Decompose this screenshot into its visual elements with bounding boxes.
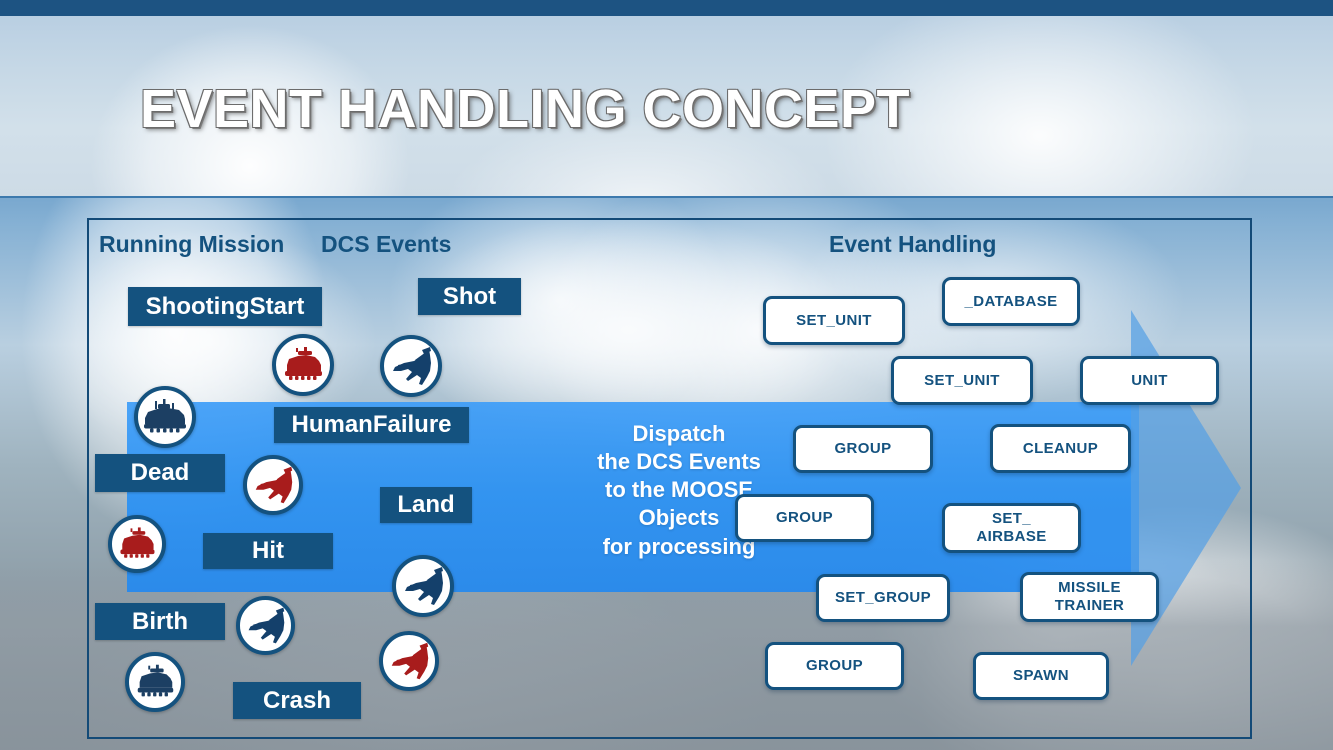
- event-icon-badge: [272, 334, 334, 396]
- event-callout-label: Birth: [132, 608, 188, 636]
- moose-object-box[interactable]: UNIT: [1080, 356, 1219, 405]
- dispatch-arrow-line: Dispatch: [559, 420, 799, 448]
- event-callout[interactable]: Hit: [203, 533, 333, 569]
- moose-object-label: SET_UNIT: [796, 312, 872, 330]
- column-heading-dcs-events: DCS Events: [321, 231, 451, 258]
- event-icon-badge: [392, 555, 454, 617]
- moose-object-box[interactable]: MISSILETRAINER: [1020, 572, 1159, 622]
- moose-object-label: UNIT: [1131, 372, 1168, 390]
- event-callout-label: Dead: [131, 459, 190, 487]
- event-callout[interactable]: Dead: [95, 454, 225, 492]
- moose-object-box[interactable]: CLEANUP: [990, 424, 1131, 473]
- event-callout-label: Land: [397, 491, 454, 519]
- event-icon-badge: [236, 596, 295, 655]
- moose-object-box[interactable]: SPAWN: [973, 652, 1109, 700]
- moose-object-box[interactable]: SET_UNIT: [891, 356, 1033, 405]
- jet-icon: [386, 341, 436, 391]
- ship-icon: [140, 392, 190, 442]
- moose-object-box[interactable]: GROUP: [735, 494, 874, 542]
- event-callout-label: Shot: [443, 283, 496, 311]
- event-icon-badge: [134, 386, 196, 448]
- moose-object-label: _DATABASE: [964, 293, 1057, 311]
- slide-canvas: EVENT HANDLING CONCEPT Dispatchthe DCS E…: [0, 0, 1333, 750]
- tank-icon: [278, 340, 328, 390]
- event-icon-badge: [380, 335, 442, 397]
- page-title: EVENT HANDLING CONCEPT: [140, 78, 910, 140]
- event-icon-badge: [379, 631, 439, 691]
- event-icon-badge: [243, 455, 303, 515]
- event-icon-badge: [125, 652, 185, 712]
- jet-red-icon: [385, 637, 433, 685]
- event-callout-label: ShootingStart: [146, 293, 305, 321]
- jet-icon: [398, 561, 448, 611]
- column-heading-running-mission: Running Mission: [99, 231, 284, 258]
- moose-object-label: SET_AIRBASE: [976, 510, 1046, 545]
- tank-icon: [114, 521, 160, 567]
- jet-icon: [386, 341, 436, 391]
- tank-icon: [114, 521, 160, 567]
- top-accent-strip: [0, 0, 1333, 16]
- moose-object-box[interactable]: SET_GROUP: [816, 574, 950, 622]
- event-callout[interactable]: Land: [380, 487, 472, 523]
- jet-icon: [242, 602, 289, 649]
- jet-red-icon: [249, 461, 297, 509]
- moose-object-label: GROUP: [806, 657, 863, 675]
- tank-navy-icon: [131, 658, 179, 706]
- event-callout-label: Crash: [263, 687, 331, 715]
- tank-icon: [278, 340, 328, 390]
- event-callout[interactable]: Crash: [233, 682, 361, 719]
- column-heading-event-handling: Event Handling: [829, 231, 996, 258]
- jet-red-icon: [385, 637, 433, 685]
- event-icon-badge: [108, 515, 166, 573]
- moose-object-box[interactable]: SET_AIRBASE: [942, 503, 1081, 553]
- dispatch-arrow-line: the DCS Events: [559, 448, 799, 476]
- moose-object-label: GROUP: [834, 440, 891, 458]
- event-callout[interactable]: HumanFailure: [274, 407, 469, 443]
- jet-icon: [398, 561, 448, 611]
- moose-object-label: SPAWN: [1013, 667, 1069, 685]
- tank-navy-icon: [131, 658, 179, 706]
- moose-object-label: GROUP: [776, 509, 833, 527]
- moose-object-box[interactable]: SET_UNIT: [763, 296, 905, 345]
- event-callout-label: HumanFailure: [291, 411, 451, 439]
- jet-red-icon: [249, 461, 297, 509]
- moose-object-box[interactable]: GROUP: [765, 642, 904, 690]
- moose-object-label: SET_GROUP: [835, 589, 931, 607]
- moose-object-label: SET_UNIT: [924, 372, 1000, 390]
- event-callout[interactable]: ShootingStart: [128, 287, 322, 326]
- ship-icon: [140, 392, 190, 442]
- event-callout-label: Hit: [252, 537, 284, 565]
- moose-object-box[interactable]: _DATABASE: [942, 277, 1080, 326]
- moose-object-label: CLEANUP: [1023, 440, 1098, 458]
- moose-object-label: MISSILETRAINER: [1055, 579, 1124, 614]
- event-callout[interactable]: Birth: [95, 603, 225, 640]
- diagram-frame: Dispatchthe DCS Eventsto the MOOSEObject…: [87, 218, 1252, 739]
- jet-icon: [242, 602, 289, 649]
- event-callout[interactable]: Shot: [418, 278, 521, 315]
- moose-object-box[interactable]: GROUP: [793, 425, 933, 473]
